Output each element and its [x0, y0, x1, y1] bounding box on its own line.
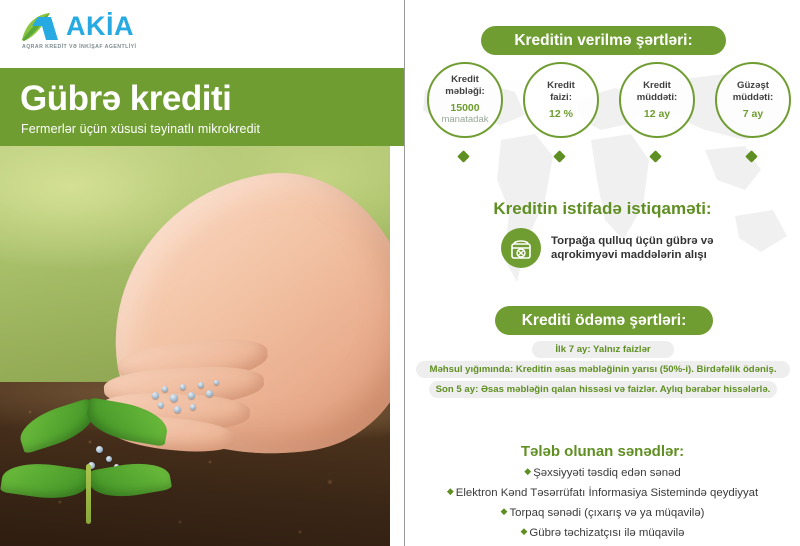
document-item: ◆Elektron Kənd Təsərrüfatı İnformasiya S…: [405, 486, 800, 499]
usage-heading: Kreditin istifadə istiqaməti:: [405, 199, 800, 219]
repayment-term: Məhsul yığımında: Kreditin əsas məbləğin…: [416, 361, 790, 378]
stat-circle-interest-rate: Kredit faizi: 12 %: [523, 62, 599, 138]
hero-photo: [0, 146, 390, 546]
stat-value: 12 ay: [644, 108, 670, 120]
stat-value: 12 %: [549, 108, 573, 120]
logo-area: AKİA AQRAR KREDİT VƏ İNKİŞAF AGENTLİYİ: [0, 0, 404, 68]
repayment-term: İlk 7 ay: Yalnız faizlər: [532, 341, 674, 358]
stat-value: 15000 manatadak: [441, 102, 488, 126]
stat-label: Kredit faizi:: [547, 80, 575, 103]
bullet-icon: ◆: [524, 466, 531, 476]
fertilizer-bag-icon: [501, 228, 541, 268]
document-item: ◆Gübrə təchizatçısı ilə müqavilə: [405, 526, 800, 539]
document-item: ◆Torpaq sənədi (çıxarış və ya müqavilə): [405, 506, 800, 519]
stat-subvalue: manatadak: [441, 114, 488, 126]
fertilizer-granules: [150, 378, 230, 418]
leaf-arrow-icon: [18, 10, 62, 44]
left-panel: AKİA AQRAR KREDİT VƏ İNKİŞAF AGENTLİYİ G…: [0, 0, 404, 546]
bullet-icon: ◆: [447, 486, 454, 496]
brand-name: AKİA: [66, 10, 134, 42]
document-item: ◆Şəxsiyyəti təsdiq edən sənəd: [405, 466, 800, 479]
brand-logo: AKİA: [18, 10, 134, 44]
repayment-term: Son 5 ay: Əsas məbləğin qalan hissəsi və…: [429, 381, 777, 398]
stat-label: Güzəşt müddəti:: [733, 80, 774, 103]
stat-circle-grace-period: Güzəşt müddəti: 7 ay: [715, 62, 791, 138]
right-panel: Kreditin verilmə şərtləri: Kredit məbləğ…: [405, 0, 800, 546]
page-title: Gübrə krediti: [20, 78, 231, 120]
repayment-heading: Krediti ödəmə şərtləri:: [495, 306, 713, 335]
documents-heading: Tələb olunan sənədlər:: [405, 443, 800, 460]
stat-label: Kredit müddəti:: [637, 80, 678, 103]
stat-label: Kredit məbləği:: [445, 74, 484, 97]
stat-circle-loan-term: Kredit müddəti: 12 ay: [619, 62, 695, 138]
usage-row: Torpağa qulluq üçün gübrə və aqrokimyəvi…: [501, 228, 713, 268]
brand-tagline: AQRAR KREDİT VƏ İNKİŞAF AGENTLİYİ: [22, 44, 136, 50]
conditions-heading: Kreditin verilmə şərtləri:: [481, 26, 726, 55]
usage-text: Torpağa qulluq üçün gübrə və aqrokimyəvi…: [551, 234, 713, 263]
page-subtitle: Fermerlər üçün xüsusi təyinatlı mikrokre…: [21, 122, 260, 136]
bullet-icon: ◆: [501, 506, 508, 516]
stat-circle-loan-amount: Kredit məbləği: 15000 manatadak: [427, 62, 503, 138]
infographic-page: AKİA AQRAR KREDİT VƏ İNKİŞAF AGENTLİYİ G…: [0, 0, 800, 546]
stat-value: 7 ay: [743, 108, 763, 120]
seedling-stem: [86, 464, 91, 524]
bullet-icon: ◆: [520, 526, 527, 536]
